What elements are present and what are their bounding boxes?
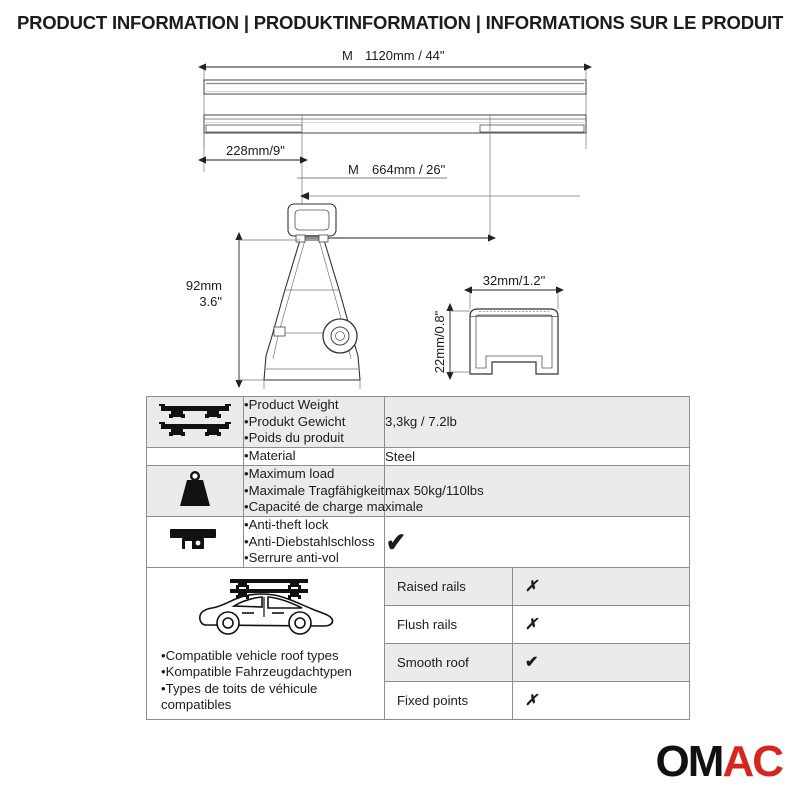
label-en: •Compatible vehicle roof types [161, 648, 384, 665]
foot-height-line2: 3.6" [199, 294, 222, 309]
table-row: •Product Weight •Produkt Gewicht •Poids … [147, 397, 690, 448]
table-row: •Material Steel [147, 447, 690, 465]
offset-label: 228mm/9" [226, 143, 285, 158]
label-fr: •Poids du produit [244, 430, 384, 447]
lock-icon [147, 516, 244, 567]
technical-drawing-svg: M 1120mm / 44" 228mm/9" M 664mm / 26" 92… [0, 44, 800, 389]
foot-height-line1: 92mm [186, 278, 222, 293]
roof-type-row: Smooth roof ✔ [385, 643, 689, 681]
compatibility-options: Raised rails ✗ Flush rails ✗ Smooth roof… [385, 567, 690, 719]
label-fr: •Capacité de charge maximale [244, 499, 384, 516]
label-en: •Maximum load [244, 466, 384, 483]
technical-drawing-area: M 1120mm / 44" 228mm/9" M 664mm / 26" 92… [0, 44, 800, 389]
cross-icon: ✗ [525, 578, 538, 595]
span-prefix: M [348, 162, 359, 177]
material-labels: •Material [244, 447, 385, 465]
roof-type-name: Fixed points [385, 681, 513, 719]
label-fr: •Serrure anti-vol [244, 550, 384, 567]
roof-type-name: Flush rails [385, 605, 513, 643]
label-de: •Produkt Gewicht [244, 414, 384, 431]
bar-length-label: 1120mm / 44" [365, 48, 445, 63]
logo-text-red: AC [722, 737, 782, 786]
table-row: •Maximum load •Maximale Tragfähigkeit •C… [147, 466, 690, 517]
roof-type-row: Fixed points ✗ [385, 681, 689, 719]
table-row: •Anti-theft lock •Anti-Diebstahlschloss … [147, 516, 690, 567]
table-row-compatibility: •Compatible vehicle roof types •Kompatib… [147, 567, 690, 719]
cross-icon: ✗ [525, 692, 538, 709]
label-en: •Anti-theft lock [244, 517, 384, 534]
roof-type-mark: ✗ [513, 568, 690, 606]
check-icon: ✔ [525, 654, 538, 671]
cross-icon: ✗ [525, 616, 538, 633]
profile-width-label: 32mm/1.2" [483, 273, 546, 288]
compatibility-labels: •Compatible vehicle roof types •Kompatib… [147, 648, 384, 715]
label-en: •Product Weight [244, 397, 384, 414]
logo-text-dark: OM [656, 737, 723, 786]
car-with-roof-bars-icon [190, 573, 342, 639]
bar-length-prefix: M [342, 48, 353, 63]
roof-type-row: Flush rails ✗ [385, 605, 689, 643]
foot-width-label: 104mm / 4" [279, 388, 345, 389]
roof-type-mark: ✗ [513, 681, 690, 719]
label-de: •Anti-Diebstahlschloss [244, 534, 384, 551]
maximum-load-labels: •Maximum load •Maximale Tragfähigkeit •C… [244, 466, 385, 517]
maximum-load-value: max 50kg/110lbs [385, 466, 690, 517]
roof-type-mark: ✔ [513, 643, 690, 681]
roof-type-name: Raised rails [385, 568, 513, 606]
anti-theft-labels: •Anti-theft lock •Anti-Diebstahlschloss … [244, 516, 385, 567]
specification-table: •Product Weight •Produkt Gewicht •Poids … [146, 396, 690, 720]
product-weight-labels: •Product Weight •Produkt Gewicht •Poids … [244, 397, 385, 448]
roof-type-table: Raised rails ✗ Flush rails ✗ Smooth roof… [385, 568, 689, 719]
product-weight-value: 3,3kg / 7.2lb [385, 397, 690, 448]
material-icon-empty [147, 447, 244, 465]
material-value: Steel [385, 447, 690, 465]
label-en: •Material [244, 448, 384, 465]
label-de: •Maximale Tragfähigkeit [244, 483, 384, 500]
anti-theft-value: ✔ [385, 516, 690, 567]
span-label: 664mm / 26" [372, 162, 446, 177]
page-title: PRODUCT INFORMATION | PRODUKTINFORMATION… [0, 12, 800, 34]
omac-logo: OMAC [656, 740, 782, 784]
check-icon: ✔ [386, 529, 406, 555]
roof-type-mark: ✗ [513, 605, 690, 643]
roof-type-name: Smooth roof [385, 643, 513, 681]
label-de: •Kompatible Fahrzeugdachtypen [161, 664, 384, 681]
weight-icon [147, 466, 244, 517]
roof-type-row: Raised rails ✗ [385, 568, 689, 606]
roof-bars-icon [147, 397, 244, 448]
compatibility-info: •Compatible vehicle roof types •Kompatib… [147, 567, 385, 719]
label-fr: •Types de toits de véhicule compatibles [161, 681, 384, 714]
profile-height-label: 22mm/0.8" [432, 310, 447, 373]
